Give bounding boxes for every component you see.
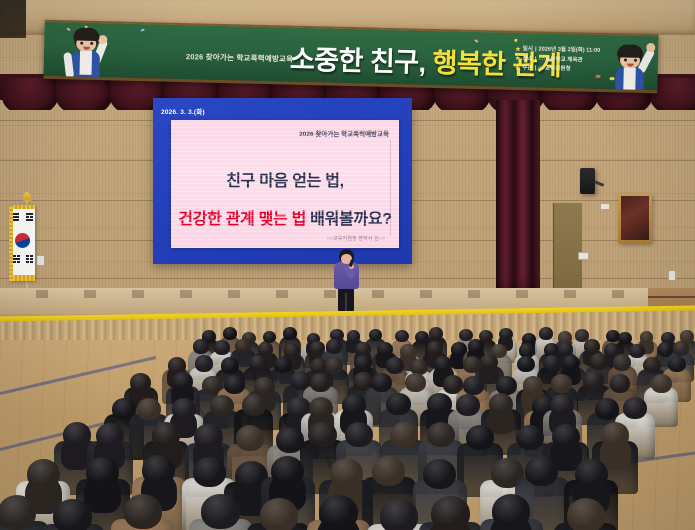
person-head	[492, 494, 531, 529]
slide-eyebrow: 2026 찾아가는 학교폭력예방교육	[299, 128, 389, 138]
person-head	[249, 355, 267, 371]
person-head	[551, 374, 572, 393]
slide-credit: ○○교육지원청 장학사 김○○	[327, 235, 385, 242]
audience-person	[419, 496, 482, 530]
slide-card: 2026 찾아가는 학교폭력예방교육 친구 마음 얻는 법, 건강한 관계 맺는…	[171, 120, 399, 248]
banner-info-label: 장소	[522, 57, 532, 63]
slide-highlight-text: 건강한 관계 맺는 법	[178, 211, 306, 228]
person-head	[583, 371, 604, 390]
star-icon: ★	[515, 47, 521, 53]
power-outlet[interactable]	[578, 252, 589, 260]
korean-flag-icon	[9, 205, 35, 281]
audience-person	[307, 495, 370, 530]
star-icon: ★	[515, 56, 521, 62]
banner-info-value: 2026년 3월 3일(화) 11:00	[538, 48, 600, 55]
person-head	[590, 353, 608, 369]
person-head	[427, 341, 443, 355]
power-outlet[interactable]	[36, 255, 45, 266]
person-head	[172, 398, 196, 420]
person-head	[193, 339, 209, 353]
banner-info-label: 주관	[522, 66, 532, 72]
person-head	[668, 356, 686, 372]
banner-info-label: 일시	[523, 47, 533, 53]
person-head	[221, 357, 239, 373]
person-head	[610, 374, 631, 393]
person-head	[271, 456, 304, 486]
audience-person	[111, 494, 174, 530]
person-head	[308, 422, 336, 448]
person-head	[640, 331, 654, 343]
person-head	[86, 457, 119, 487]
person-head	[380, 499, 419, 530]
person-head	[386, 357, 404, 373]
person-head	[260, 498, 299, 530]
audience-person	[554, 498, 617, 530]
person-head	[283, 327, 297, 339]
person-head	[152, 422, 180, 448]
banner-info-list: ★ 일시 | 2026년 3월 3일(화) 11:00 ★ 장소 | ○○초등학…	[515, 47, 601, 77]
person-head	[575, 459, 608, 489]
person-head	[325, 357, 343, 373]
person-head	[284, 343, 300, 357]
banner-info-row: ★ 주관 | ○○교육지원청	[515, 65, 600, 73]
wall-speaker-icon	[580, 168, 595, 194]
person-head	[456, 394, 480, 416]
person-head	[310, 373, 331, 392]
person-head	[618, 332, 632, 344]
mascot-kid-right-icon	[603, 41, 658, 93]
person-head	[372, 456, 405, 486]
power-outlet[interactable]	[600, 203, 610, 210]
person-head	[27, 459, 60, 489]
person-head	[0, 495, 36, 530]
mascot-kid-left-icon	[59, 24, 114, 79]
person-head	[354, 355, 372, 371]
audience-person	[247, 498, 310, 530]
stage-curtain	[496, 100, 540, 300]
flag-fringe	[9, 205, 13, 281]
audience-person	[189, 494, 252, 530]
person-head	[142, 455, 175, 485]
slide-headline-line2: 건강한 관계 맺는 법 배워볼까요?	[171, 205, 399, 229]
banner-info-row: ★ 일시 | 2026년 3월 3일(화) 11:00	[515, 47, 600, 55]
person-head	[623, 397, 647, 419]
person-head	[309, 397, 333, 419]
person-head	[242, 394, 266, 416]
person-head	[326, 339, 342, 353]
person-head	[567, 498, 606, 530]
taeguk-symbol	[15, 233, 30, 248]
person-head	[517, 356, 535, 372]
star-icon: ★	[515, 65, 521, 71]
slide-headline-line1: 친구 마음 얻는 법,	[171, 167, 399, 191]
person-head	[355, 342, 371, 356]
person-head	[673, 341, 689, 355]
person-head	[463, 376, 484, 395]
person-head	[613, 354, 631, 370]
person-head	[236, 425, 264, 451]
person-head	[214, 340, 230, 354]
person-head	[193, 457, 226, 487]
person-head	[434, 356, 452, 372]
person-head	[194, 424, 222, 450]
audience-person	[41, 499, 104, 530]
person-head	[130, 373, 151, 392]
person-head	[224, 375, 245, 394]
person-head	[330, 458, 363, 488]
banner-info-row: ★ 장소 | ○○초등학교 체육관	[515, 56, 600, 64]
person-head	[601, 422, 629, 448]
framed-picture	[618, 193, 652, 243]
person-head	[371, 373, 392, 392]
person-head	[525, 456, 558, 486]
person-head	[643, 357, 661, 373]
person-head	[377, 342, 393, 356]
person-head	[584, 339, 600, 353]
person-head	[223, 327, 237, 339]
person-head	[124, 494, 163, 529]
person-head	[489, 393, 513, 415]
person-head	[562, 355, 580, 371]
audience-person	[480, 494, 543, 530]
slide-rest-text: 배워볼까요?	[306, 211, 392, 228]
person-head	[195, 355, 213, 371]
person-head	[499, 328, 513, 340]
banner-info-value: ○○초등학교 체육관	[538, 57, 582, 64]
person-head	[345, 422, 373, 448]
person-head	[480, 354, 498, 370]
person-head	[423, 459, 456, 489]
person-head	[201, 494, 240, 529]
person-head	[395, 330, 409, 342]
person-head	[516, 425, 544, 451]
person-head	[342, 394, 366, 416]
person-head	[431, 496, 470, 530]
person-head	[53, 499, 92, 530]
person-head	[466, 425, 494, 451]
person-head	[96, 423, 124, 449]
banner-info-value: ○○교육지원청	[538, 66, 571, 73]
person-head	[235, 339, 251, 353]
photo-scene: 2026 찾아가는 학교폭력예방교육 소중한 친구, 행복한 관계 ★ 일시 |…	[0, 0, 695, 530]
banner-title-white: 소중한 친구,	[290, 45, 426, 78]
slide-date: 2026. 3. 3.(화)	[161, 106, 205, 116]
person-head	[137, 398, 161, 420]
person-head	[539, 327, 553, 339]
projection-screen: 2026. 3. 3.(화) 2026 찾아가는 학교폭력예방교육 친구 마음 …	[153, 98, 412, 264]
person-head	[210, 395, 234, 417]
person-head	[319, 495, 358, 530]
banner-subtitle: 2026 찾아가는 학교폭력예방교육	[186, 51, 293, 65]
person-head	[523, 376, 544, 395]
person-head	[390, 422, 418, 448]
power-outlet[interactable]	[668, 270, 676, 281]
person-head	[468, 339, 484, 353]
person-head	[550, 394, 574, 416]
presenter-figure	[331, 249, 361, 311]
person-head	[172, 372, 193, 391]
person-head	[405, 373, 426, 392]
ceiling-shadow	[0, 0, 26, 38]
person-head	[386, 393, 410, 415]
person-head	[552, 424, 580, 450]
person-head	[427, 422, 455, 448]
person-head	[651, 374, 672, 393]
person-head	[429, 327, 443, 339]
